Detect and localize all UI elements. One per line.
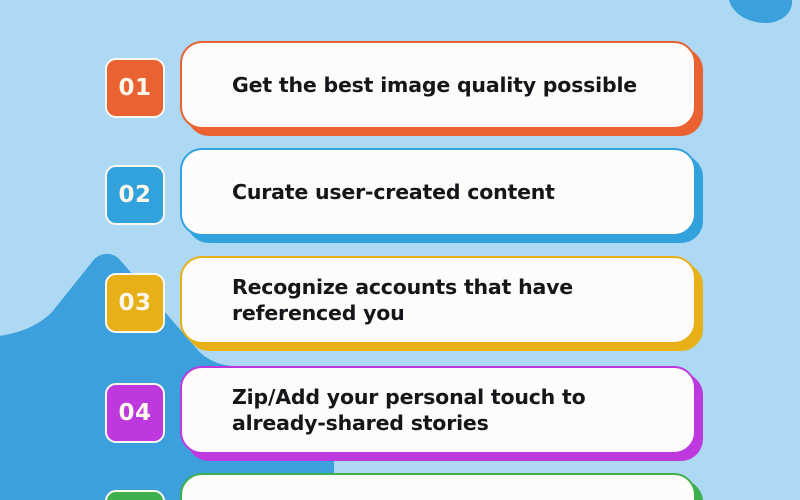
item-number-label: 04 [118, 402, 151, 425]
item-text: Zip/Add your personal touch to already-s… [232, 384, 668, 436]
item-number-badge: 03 [105, 273, 165, 333]
card-face[interactable] [180, 473, 696, 500]
list-item[interactable] [0, 490, 800, 500]
item-number-badge [105, 490, 165, 500]
list-item[interactable]: 01 Get the best image quality possible [0, 58, 800, 154]
item-number-badge: 01 [105, 58, 165, 118]
item-number-label: 01 [118, 77, 151, 100]
numbered-list: 01 Get the best image quality possible 0… [0, 0, 800, 500]
item-text: Get the best image quality possible [232, 72, 637, 98]
list-item[interactable]: 03 Recognize accounts that have referenc… [0, 273, 800, 369]
item-number-badge: 04 [105, 383, 165, 443]
item-card[interactable] [180, 473, 696, 500]
card-face[interactable]: Recognize accounts that have referenced … [180, 256, 696, 344]
item-text: Curate user-created content [232, 179, 555, 205]
card-face[interactable]: Get the best image quality possible [180, 41, 696, 129]
list-item[interactable]: 04 Zip/Add your personal touch to alread… [0, 383, 800, 479]
item-card[interactable]: Zip/Add your personal touch to already-s… [180, 366, 696, 454]
item-number-badge: 02 [105, 165, 165, 225]
card-face[interactable]: Curate user-created content [180, 148, 696, 236]
item-card[interactable]: Get the best image quality possible [180, 41, 696, 129]
list-item[interactable]: 02 Curate user-created content [0, 165, 800, 261]
item-number-label: 02 [118, 184, 151, 207]
item-card[interactable]: Recognize accounts that have referenced … [180, 256, 696, 344]
infographic-canvas: 01 Get the best image quality possible 0… [0, 0, 800, 500]
item-text: Recognize accounts that have referenced … [232, 274, 668, 326]
card-face[interactable]: Zip/Add your personal touch to already-s… [180, 366, 696, 454]
item-card[interactable]: Curate user-created content [180, 148, 696, 236]
item-number-label: 03 [118, 292, 151, 315]
